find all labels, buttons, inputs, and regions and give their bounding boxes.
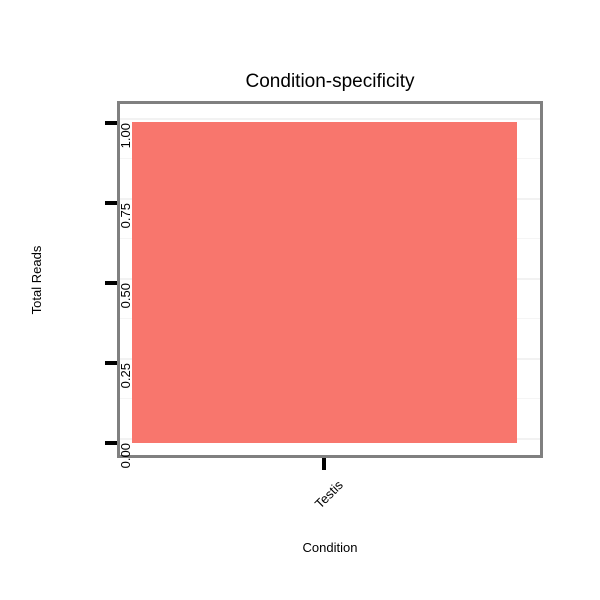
y-tick-mark-1.00 — [105, 121, 117, 125]
y-tick-label-0.25: 0.25 — [119, 363, 132, 388]
y-tick-mark-0.50 — [105, 281, 117, 285]
y-tick-label-0.00: 0.00 — [119, 443, 132, 468]
y-tick-mark-0.25 — [105, 361, 117, 365]
chart-canvas: Condition-specificity 0.00 0.25 0.50 0.7… — [0, 0, 600, 600]
bar-testis[interactable] — [132, 122, 517, 443]
x-axis-title: Condition — [0, 540, 600, 555]
y-tick-label-0.50: 0.50 — [119, 283, 132, 308]
gridline-1.00 — [120, 118, 540, 120]
y-axis-title: Total Reads — [30, 246, 43, 315]
y-tick-mark-0.75 — [105, 201, 117, 205]
chart-title: Condition-specificity — [0, 71, 600, 93]
x-tick-mark-testis — [322, 458, 326, 470]
y-tick-label-0.75: 0.75 — [119, 203, 132, 228]
x-tick-label-testis: Testis — [294, 478, 346, 530]
y-tick-mark-0.00 — [105, 441, 117, 445]
plot-panel — [117, 101, 543, 458]
plot-area — [120, 104, 540, 455]
y-tick-label-1.00: 1.00 — [119, 123, 132, 148]
